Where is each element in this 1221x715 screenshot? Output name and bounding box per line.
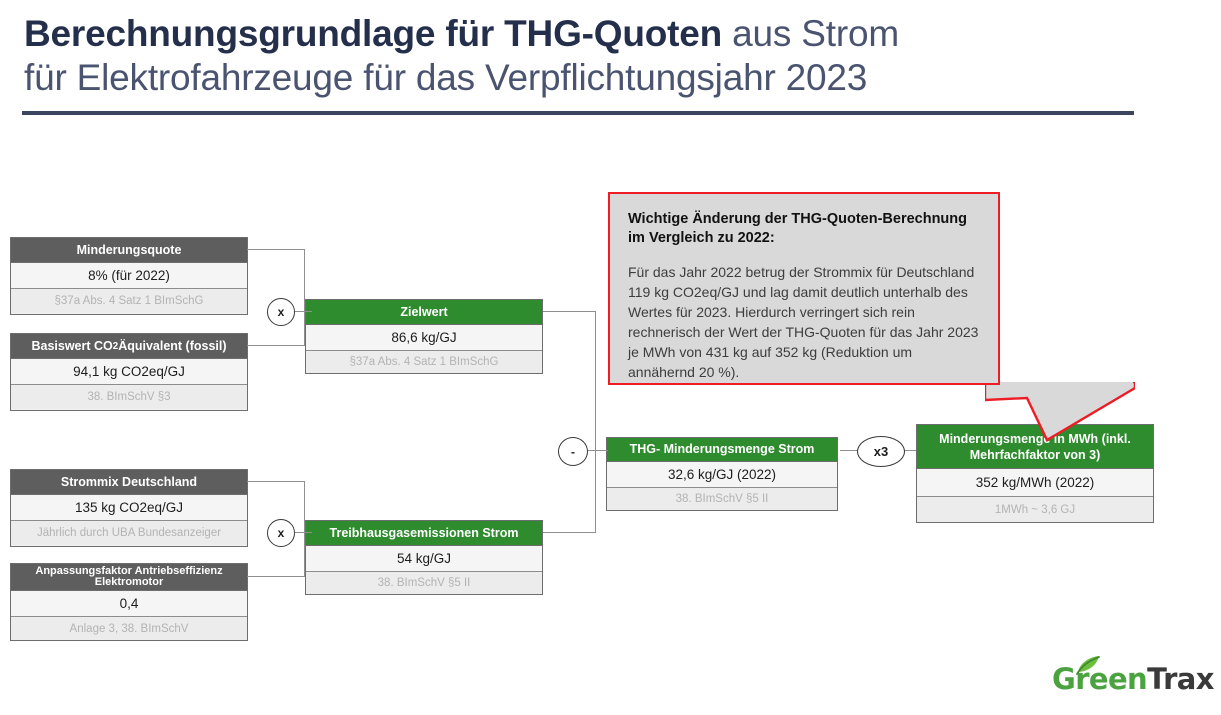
slide-canvas: Berechnungsgrundlage für THG-Quoten aus … xyxy=(0,0,1221,715)
box-source: 38. BImSchV §5 II xyxy=(306,572,542,594)
box-value: 54 kg/GJ xyxy=(306,546,542,572)
connector-line xyxy=(304,249,305,346)
connector-line xyxy=(543,532,596,533)
title-divider xyxy=(22,111,1134,115)
box-source: 1MWh ~ 3,6 GJ xyxy=(917,497,1153,522)
box-source: §37a Abs. 4 Satz 1 BImSchG xyxy=(306,351,542,373)
title-strong-part: Berechnungsgrundlage für THG-Quoten xyxy=(24,13,722,54)
page-title: Berechnungsgrundlage für THG-Quoten aus … xyxy=(24,12,1134,100)
operator-times-three: x3 xyxy=(857,436,905,467)
operator-minus: - xyxy=(558,437,588,466)
box-header: Strommix Deutschland xyxy=(11,470,247,495)
box-thg-minderungsmenge[interactable]: THG- Minderungsmenge Strom 32,6 kg/GJ (2… xyxy=(606,437,838,511)
title-line-1: Berechnungsgrundlage für THG-Quoten aus … xyxy=(24,12,1134,56)
box-treibhausgasemissionen[interactable]: Treibhausgasemissionen Strom 54 kg/GJ 38… xyxy=(305,520,543,595)
box-source: 38. BImSchV §5 II xyxy=(607,488,837,510)
callout-pointer-tail xyxy=(985,382,1135,444)
operator-multiply-bottom: x xyxy=(267,519,295,547)
box-value: 32,6 kg/GJ (2022) xyxy=(607,462,837,488)
connector-line xyxy=(247,481,305,482)
box-value: 352 kg/MWh (2022) xyxy=(917,469,1153,497)
title-line-2: für Elektrofahrzeuge für das Verpflichtu… xyxy=(24,56,1134,100)
connector-line xyxy=(595,311,596,533)
box-source: 38. BImSchV §3 xyxy=(11,385,247,409)
box-zielwert[interactable]: Zielwert 86,6 kg/GJ §37a Abs. 4 Satz 1 B… xyxy=(305,299,543,374)
connector-line xyxy=(247,576,305,577)
callout-box: Wichtige Änderung der THG-Quoten-Berechn… xyxy=(608,192,1000,385)
connector-line xyxy=(247,249,305,250)
operator-multiply-top: x xyxy=(267,298,295,326)
connector-line xyxy=(247,345,305,346)
box-anpassungsfaktor[interactable]: Anpassungsfaktor Antriebseffizienz Elekt… xyxy=(10,563,248,641)
box-source: §37a Abs. 4 Satz 1 BImSchG xyxy=(11,289,247,313)
logo-wordmark: GreenTrax xyxy=(1052,662,1214,696)
box-minderungsquote[interactable]: Minderungsquote 8% (für 2022) §37a Abs. … xyxy=(10,237,248,315)
logo-dark-part: Trax xyxy=(1147,662,1214,696)
box-value: 94,1 kg CO2eq/GJ xyxy=(11,359,247,385)
box-value: 86,6 kg/GJ xyxy=(306,325,542,351)
callout-content: Wichtige Änderung der THG-Quoten-Berechn… xyxy=(610,194,998,392)
box-header: Anpassungsfaktor Antriebseffizienz Elekt… xyxy=(11,564,247,591)
box-header: Treibhausgasemissionen Strom xyxy=(306,521,542,546)
box-header: Minderungsquote xyxy=(11,238,247,263)
box-basiswert-co2[interactable]: Basiswert CO2 Äquivalent (fossil) 94,1 k… xyxy=(10,333,248,411)
title-light-part: aus Strom xyxy=(722,13,899,54)
box-source: Jährlich durch UBA Bundesanzeiger xyxy=(11,521,247,545)
box-header: THG- Minderungsmenge Strom xyxy=(607,438,837,462)
callout-body: Für das Jahr 2022 betrug der Strommix fü… xyxy=(628,262,980,382)
connector-line xyxy=(304,481,305,577)
greentrax-logo: GreenTrax xyxy=(1052,660,1202,706)
box-value: 135 kg CO2eq/GJ xyxy=(11,495,247,521)
box-header: Basiswert CO2 Äquivalent (fossil) xyxy=(11,334,247,359)
logo-green-part: Green xyxy=(1052,662,1147,696)
callout-heading: Wichtige Änderung der THG-Quoten-Berechn… xyxy=(628,210,980,248)
box-header-text-pre: Basiswert CO xyxy=(31,340,112,353)
box-strommix-deutschland[interactable]: Strommix Deutschland 135 kg CO2eq/GJ Jäh… xyxy=(10,469,248,547)
box-value: 8% (für 2022) xyxy=(11,263,247,289)
connector-line xyxy=(543,311,596,312)
box-header-text-post: Äquivalent (fossil) xyxy=(118,340,226,353)
box-value: 0,4 xyxy=(11,591,247,617)
box-source: Anlage 3, 38. BImSchV xyxy=(11,617,247,640)
box-header: Zielwert xyxy=(306,300,542,325)
